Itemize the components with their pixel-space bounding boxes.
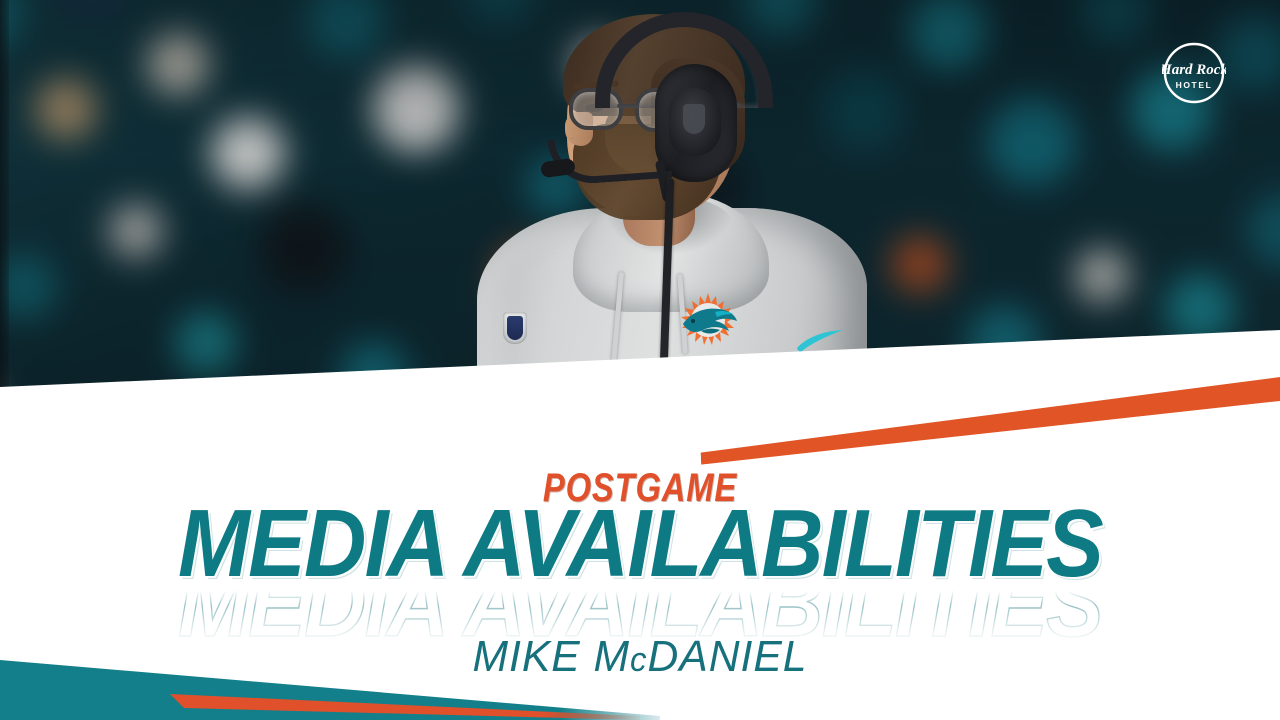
- nfl-shield-patch-inner: [507, 316, 523, 340]
- video-thumbnail: Hard Rock HOTEL POSTGAME MEDIA AVAILABIL…: [0, 0, 1280, 720]
- hard-rock-hotel-logo: Hard Rock HOTEL: [1162, 41, 1226, 105]
- left-edge-shadow-strip: [0, 0, 9, 440]
- headline-group: MEDIA AVAILABILITIES MEDIA AVAILABILITIE…: [0, 496, 1280, 626]
- hard-rock-wordmark: Hard Rock: [1162, 62, 1226, 78]
- speaker-name-small-c: c: [630, 641, 647, 679]
- dolphins-logo: [671, 290, 745, 352]
- hotel-wordmark: HOTEL: [1176, 80, 1213, 90]
- speaker-name-last: DANIEL: [648, 632, 808, 681]
- nfl-shield-icon: [683, 104, 705, 134]
- speaker-name-first: MIKE M: [472, 632, 630, 681]
- speaker-name: MIKE McDANIEL: [19, 632, 1261, 682]
